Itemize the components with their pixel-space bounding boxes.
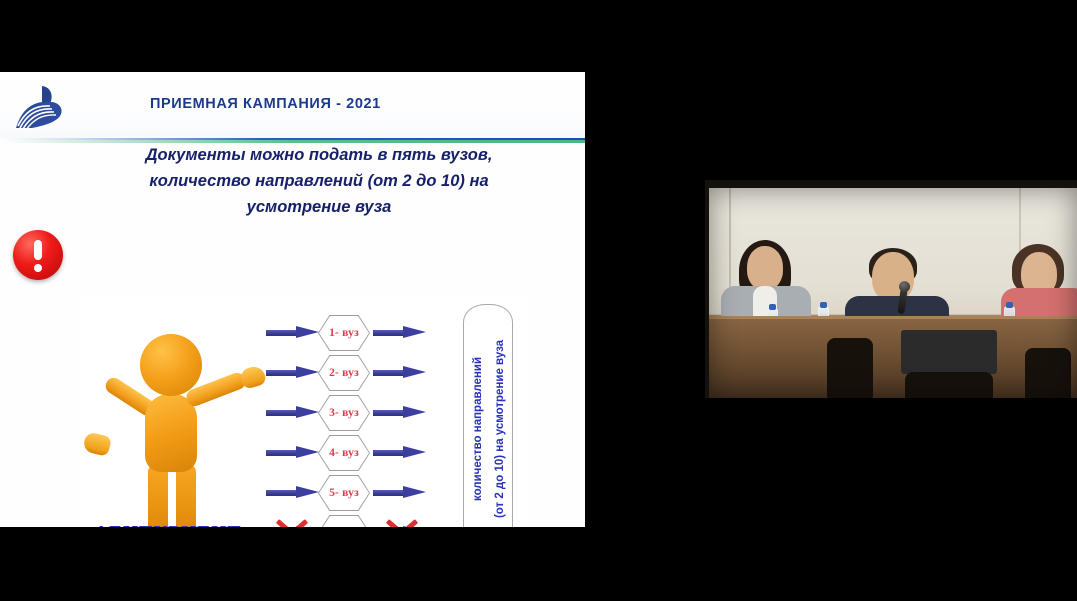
- exclamation-bar: [34, 240, 42, 260]
- slide-header: ПРИЕМНАЯ КАМПАНИЯ - 2021: [0, 72, 585, 139]
- university-hexagon-label: 6- вуз: [318, 515, 370, 527]
- arrow-out-icon: [373, 366, 425, 379]
- organization-logo: [12, 82, 72, 132]
- conference-table: [709, 316, 1077, 398]
- monitor-center: [901, 330, 997, 374]
- participant-center-head: [872, 252, 914, 302]
- university-hexagon-label: 2- вуз: [318, 355, 370, 391]
- headline-line-3: усмотрение вуза: [88, 194, 550, 220]
- exclamation-dot: [34, 264, 42, 272]
- chair-right: [1025, 348, 1071, 398]
- headline-line-2: количество направлений (от 2 до 10) на: [88, 168, 550, 194]
- arrow-in-icon: [266, 366, 318, 379]
- university-row: 2- вуз: [78, 356, 528, 390]
- university-hexagon-label: 5- вуз: [318, 475, 370, 511]
- university-row: 5- вуз: [78, 476, 528, 510]
- bottle-cap: [769, 304, 776, 310]
- directions-bracket: количество направлений (от 2 до 10) на у…: [463, 304, 513, 527]
- university-row: 4- вуз: [78, 436, 528, 470]
- university-hexagon-label: 4- вуз: [318, 435, 370, 471]
- arrow-out-icon: [373, 326, 425, 339]
- university-hexagon: 4- вуз: [318, 435, 370, 471]
- university-hexagon: 3- вуз: [318, 395, 370, 431]
- arrow-in-icon: [266, 446, 318, 459]
- bracket-line-2: (от 2 до 10) на усмотрение вуза: [494, 340, 506, 518]
- blocked-cross-icon: [384, 515, 420, 527]
- chair-left: [827, 338, 873, 398]
- bottle-cap: [820, 302, 827, 308]
- university-hexagon: 6- вуз: [318, 515, 370, 527]
- headline-line-1: Документы можно подать в пять вузов,: [88, 142, 550, 168]
- arrow-in-icon: [266, 486, 318, 499]
- university-hexagon: 2- вуз: [318, 355, 370, 391]
- webcam-video-tile[interactable]: [705, 180, 1077, 398]
- university-hexagon: 5- вуз: [318, 475, 370, 511]
- university-row: 3- вуз: [78, 396, 528, 430]
- video-room-background: [709, 188, 1077, 398]
- university-hexagon-label: 3- вуз: [318, 395, 370, 431]
- arrow-out-icon: [373, 486, 425, 499]
- exclamation-alert-icon: [13, 230, 63, 280]
- university-row: 1- вуз: [78, 316, 528, 350]
- slide-title: ПРИЕМНАЯ КАМПАНИЯ - 2021: [150, 96, 550, 112]
- blocked-cross-icon: [274, 515, 310, 527]
- university-hexagon: 1- вуз: [318, 315, 370, 351]
- university-hexagon-label: 1- вуз: [318, 315, 370, 351]
- screen-share-stage: ПРИЕМНАЯ КАМПАНИЯ - 2021 Документы можно…: [0, 0, 1077, 601]
- bracket-line-1: количество направлений: [472, 357, 484, 501]
- participant-left-head: [747, 246, 783, 290]
- admission-flow-diagram: 1- вуз2- вуз3- вуз4- вуз5- вуз6- вуз АБИ…: [78, 294, 528, 527]
- arrow-out-icon: [373, 446, 425, 459]
- chair-center: [905, 372, 993, 398]
- directions-bracket-text: количество направлений (от 2 до 10) на у…: [464, 305, 514, 527]
- arrow-in-icon: [266, 326, 318, 339]
- slide-headline: Документы можно подать в пять вузов, кол…: [88, 142, 550, 220]
- university-rows: 1- вуз2- вуз3- вуз4- вуз5- вуз6- вуз: [78, 294, 528, 527]
- conference-table-edge: [709, 316, 1077, 319]
- bottle-cap: [1006, 302, 1013, 308]
- presentation-slide: ПРИЕМНАЯ КАМПАНИЯ - 2021 Документы можно…: [0, 72, 585, 527]
- arrow-in-icon: [266, 406, 318, 419]
- arrow-out-icon: [373, 406, 425, 419]
- applicant-label: АБИТУРИЕНТ: [94, 522, 241, 527]
